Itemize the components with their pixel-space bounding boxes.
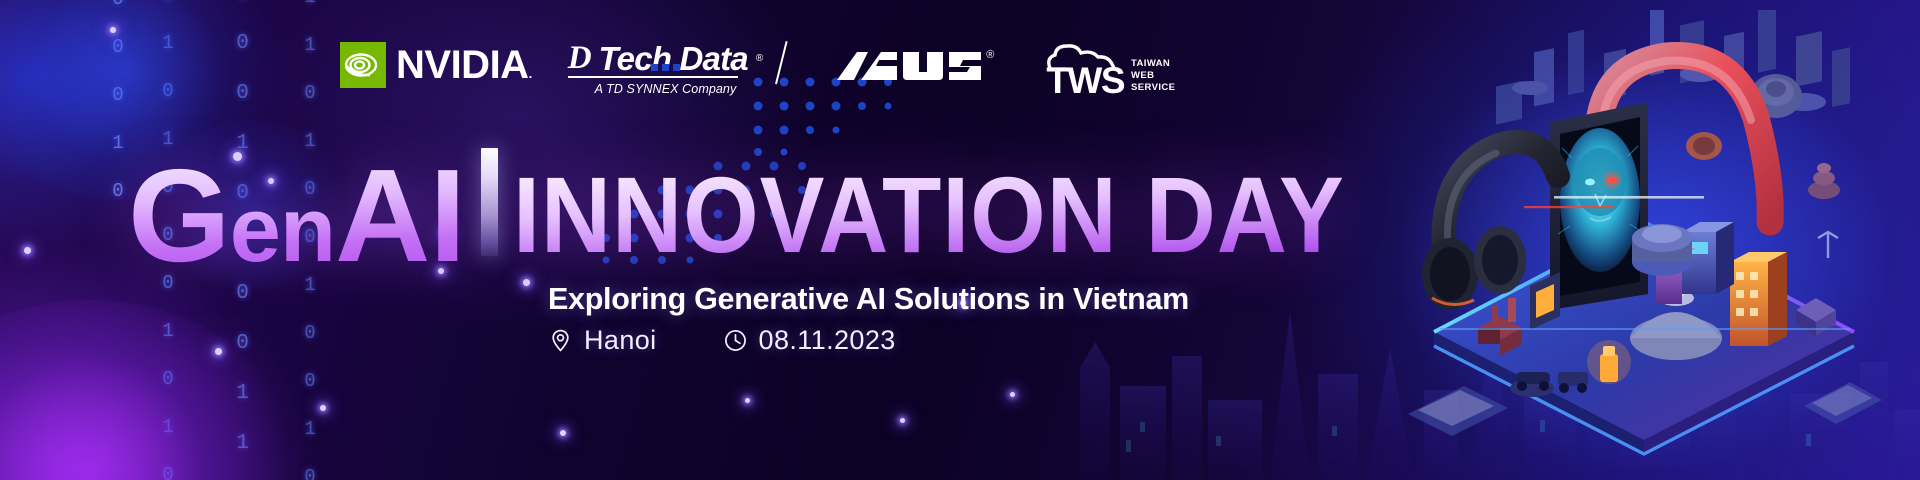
genai-logotype: GenAI [128,162,465,270]
sparkle [560,430,566,436]
sparkle [215,348,222,355]
tws-sub-line-2: WEB [1131,70,1175,82]
isometric-ai-city-illustration [1404,10,1884,470]
tech-data-mark: D [568,42,592,75]
square-dot [662,64,669,71]
square-dot [651,64,658,71]
square-dot [673,64,680,71]
sponsor-logo-strip: NVIDIA. D Tech Data ® A TD SYNNEX Compan… [340,42,1175,108]
headline-divider [481,148,498,256]
genai-en: en [230,179,335,281]
sponsor-logo-nvidia[interactable]: NVIDIA. [340,42,532,88]
map-pin-icon [548,328,573,353]
subtitle: Exploring Generative AI Solutions in Vie… [548,282,1189,317]
sponsor-logo-asus[interactable]: ® [835,42,994,86]
event-date: 08.11.2023 [723,325,896,356]
genai-g: G [128,142,230,289]
tech-data-slash [775,41,788,84]
headline: GenAI INNOVATION DAY [128,148,1437,270]
asus-wrap: ® [835,46,994,86]
asus-logotype-icon [835,46,983,86]
sparkle [900,418,905,423]
genai-ai: AI [335,142,465,289]
sparkle [745,398,750,403]
tech-data-tagline: A TD SYNNEX Company [568,82,764,96]
asus-registered: ® [986,49,994,61]
tws-wordmark: TWS [1046,65,1124,96]
sponsor-logo-tech-data[interactable]: D Tech Data ® A TD SYNNEX Company [568,42,778,96]
event-location: Hanoi [548,325,657,356]
location-label: Hanoi [584,325,657,356]
sparkle [1010,392,1015,397]
date-label: 08.11.2023 [759,325,896,356]
tech-data-registered: ® [756,53,763,64]
nvidia-wordmark: NVIDIA. [396,45,532,85]
event-banner: 0 0 0 1 0 1 1 0 1 0 0 0 1 0 1 0 0 1 0 0 … [0,0,1920,480]
tws-sub-line-3: SERVICE [1131,82,1175,94]
sparkle [110,27,116,33]
sparkle [320,405,326,411]
tws-sub-line-1: TAIWAN [1131,58,1175,70]
nvidia-trademark: . [529,66,532,81]
sponsor-logo-tws[interactable]: TWS TAIWAN WEB SERVICE [1046,42,1175,96]
event-meta: Hanoi 08.11.2023 [548,325,896,356]
tws-subtitle: TAIWAN WEB SERVICE [1131,58,1175,97]
sparkle [523,279,530,286]
tws-left: TWS [1046,44,1124,96]
clock-icon [723,328,748,353]
page-title: INNOVATION DAY [513,171,1345,260]
nvidia-eye-icon [340,42,386,88]
sparkle [24,247,31,254]
